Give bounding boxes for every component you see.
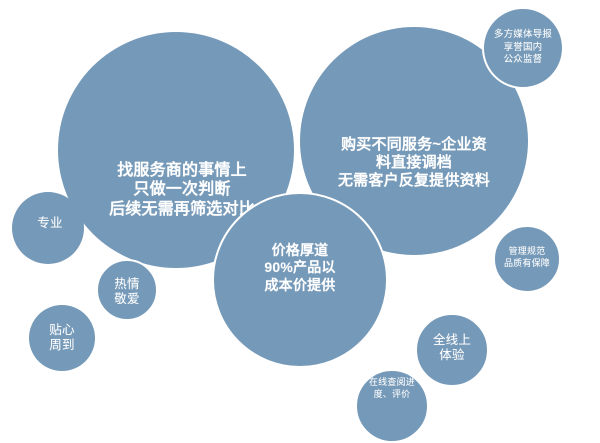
bubble-online-progress: 在线查阅进 度、评价 [355,369,429,443]
bubble-service-provider-label: 找服务商的事情上 只做一次判断 后续无需再筛选对比 [109,161,255,220]
bubble-fair-price-label: 价格厚道 90%产品以 成本价提供 [264,242,335,293]
bubble-full-online-label: 全线上 体验 [433,333,471,364]
bubble-online-progress-label: 在线查阅进 度、评价 [369,376,415,400]
bubble-considerate: 贴心 周到 [29,305,95,371]
bubble-media-report: 多方媒体导报 享誉国内 公众监督 [482,7,564,89]
bubble-media-report-label: 多方媒体导报 享誉国内 公众监督 [494,29,552,66]
bubble-full-online: 全线上 体验 [415,313,489,387]
bubble-considerate-label: 贴心 周到 [49,323,74,354]
bubble-standard-management-label: 管理规范 品质有保障 [504,245,550,269]
bubble-enthusiastic: 热情 敬爱 [96,259,158,321]
bubble-professional-label: 专业 [37,216,62,231]
bubble-diagram-canvas: 找服务商的事情上 只做一次判断 后续无需再筛选对比购买不同服务~企业资 料直接调… [0,0,600,411]
bubble-buy-different-service-label: 购买不同服务~企业资 料直接调档 无需客户反复提供资料 [338,136,490,191]
bubble-professional: 专业 [12,192,84,264]
bubble-enthusiastic-label: 热情 敬爱 [114,277,139,308]
bubble-fair-price: 价格厚道 90%产品以 成本价提供 [212,192,388,368]
bubble-standard-management: 管理规范 品质有保障 [493,225,561,293]
